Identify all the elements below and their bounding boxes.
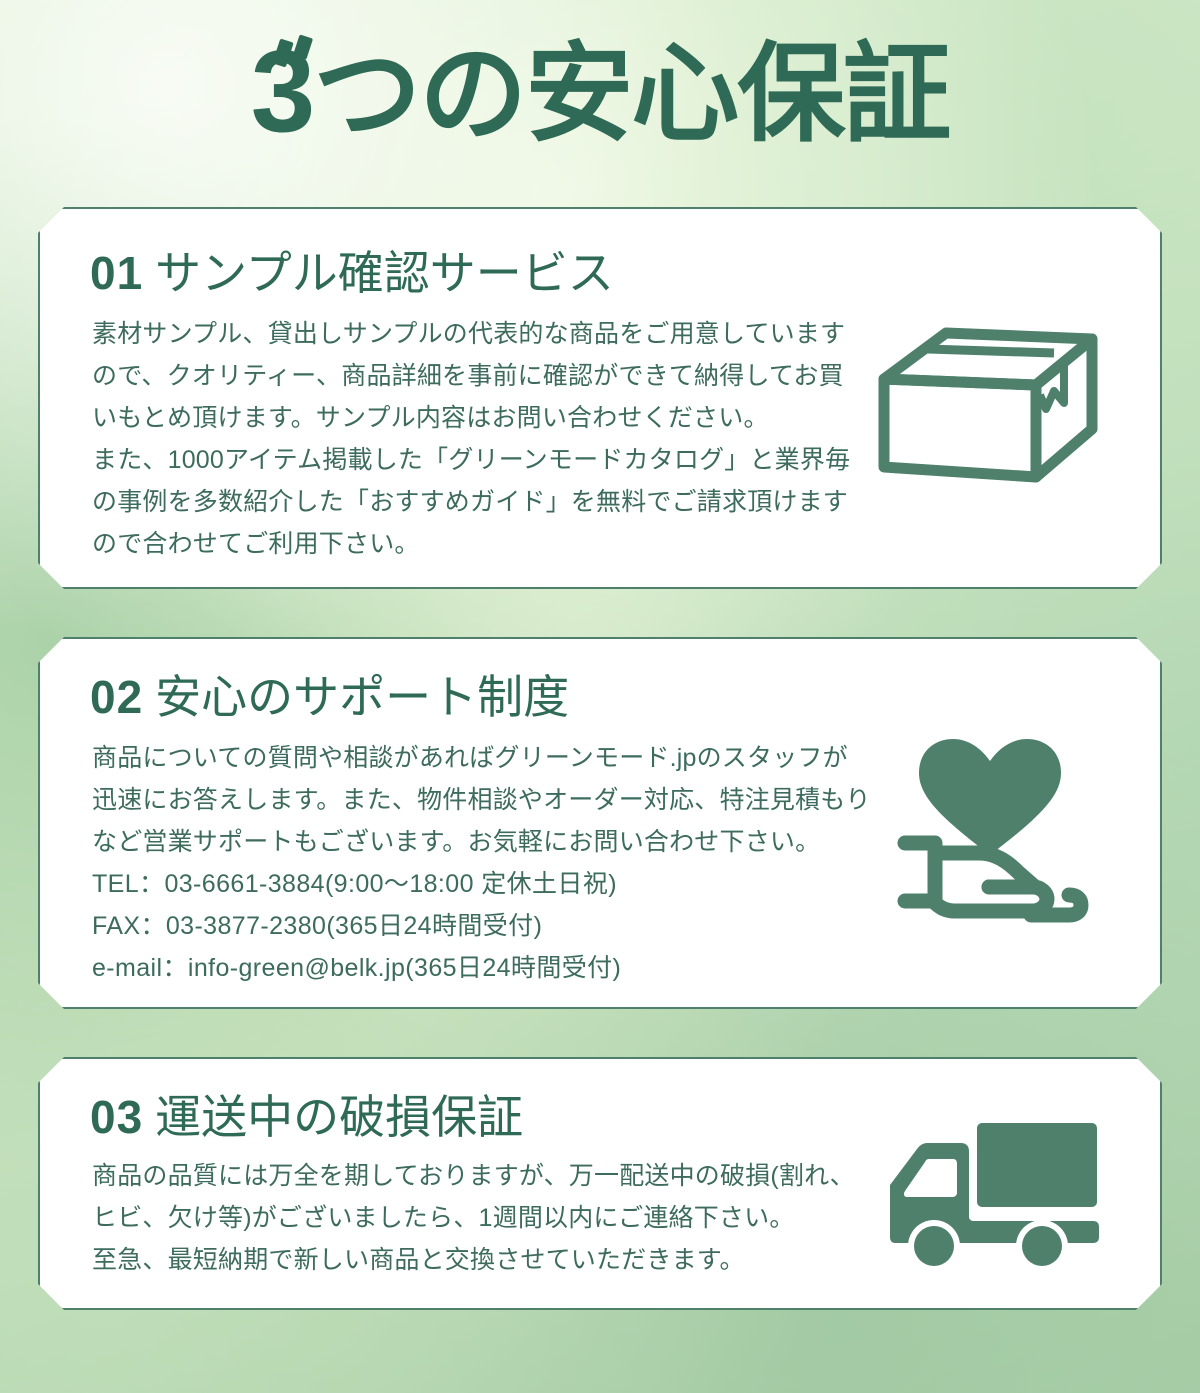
card-3-line-2: ヒビ、欠け等)がございましたら、1週間以内にご連絡下さい。 — [92, 1197, 855, 1239]
contact-fax: FAX：03-3877-2380(365日24時間受付) — [92, 905, 871, 947]
cardboard-box-icon — [868, 317, 1108, 497]
guarantee-card-3: 03運送中の破損保証 商品の品質には万全を期しておりますが、万一配送中の破損(割… — [38, 1057, 1162, 1310]
card-3-body: 商品の品質には万全を期しておりますが、万一配送中の破損(割れ、 ヒビ、欠け等)が… — [92, 1155, 855, 1281]
card-3-title: 運送中の破損保証 — [155, 1091, 523, 1143]
guarantee-card-2: 02安心のサポート制度 商品についての質問や相談があればグリーンモード.jpのス… — [38, 637, 1162, 1009]
card-1-line-1: 素材サンプル、貸出しサンプルの代表的な商品をご用意しています — [92, 313, 850, 355]
card-1-title: サンプル確認サービス — [155, 247, 614, 299]
card-2-line-2: 迅速にお答えします。また、物件相談やオーダー対応、特注見積もり — [92, 779, 871, 821]
heart-in-hand-icon — [883, 727, 1098, 927]
card-1-body: 素材サンプル、貸出しサンプルの代表的な商品をご用意しています ので、クオリティー… — [92, 313, 850, 565]
page-title: 3つの安心保証 — [0, 28, 1200, 156]
page-title-text: つの安心保証 — [313, 33, 949, 154]
card-2-title: 安心のサポート制度 — [155, 671, 569, 723]
card-1-line-3: いもとめ頂けます。サンプル内容はお問い合わせください。 — [92, 397, 850, 439]
card-2-line-3: など営業サポートもございます。お気軽にお問い合わせ下さい。 — [92, 821, 871, 863]
card-3-index: 03 — [90, 1091, 143, 1143]
hero-header: 3つの安心保証 — [0, 0, 1200, 195]
card-2-body: 商品についての質問や相談があればグリーンモード.jpのスタッフが 迅速にお答えし… — [92, 737, 871, 989]
card-1-heading: 01サンプル確認サービス — [90, 237, 614, 303]
page-title-number: 3 — [251, 26, 314, 156]
card-1-line-5: の事例を多数紹介した「おすすめガイド」を無料でご請求頂けます — [92, 481, 850, 523]
card-1-index: 01 — [90, 247, 143, 299]
card-3-heading: 03運送中の破損保証 — [90, 1081, 523, 1147]
guarantee-card-1: 01サンプル確認サービス 素材サンプル、貸出しサンプルの代表的な商品をご用意して… — [38, 207, 1162, 589]
card-3-line-3: 至急、最短納期で新しい商品と交換させていただきます。 — [92, 1239, 855, 1281]
card-1-line-4: また、1000アイテム掲載した「グリーンモードカタログ」と業界毎 — [92, 439, 850, 481]
contact-tel: TEL：03-6661-3884(9:00〜18:00 定休土日祝) — [92, 863, 871, 905]
delivery-truck-icon — [887, 1113, 1112, 1288]
contact-email: e-mail：info-green@belk.jp(365日24時間受付) — [92, 947, 871, 989]
card-3-line-1: 商品の品質には万全を期しておりますが、万一配送中の破損(割れ、 — [92, 1155, 855, 1197]
card-1-line-6: ので合わせてご利用下さい。 — [92, 523, 850, 565]
card-2-heading: 02安心のサポート制度 — [90, 661, 569, 727]
card-2-index: 02 — [90, 671, 143, 723]
card-1-line-2: ので、クオリティー、商品詳細を事前に確認ができて納得してお買 — [92, 355, 850, 397]
card-2-line-1: 商品についての質問や相談があればグリーンモード.jpのスタッフが — [92, 737, 871, 779]
